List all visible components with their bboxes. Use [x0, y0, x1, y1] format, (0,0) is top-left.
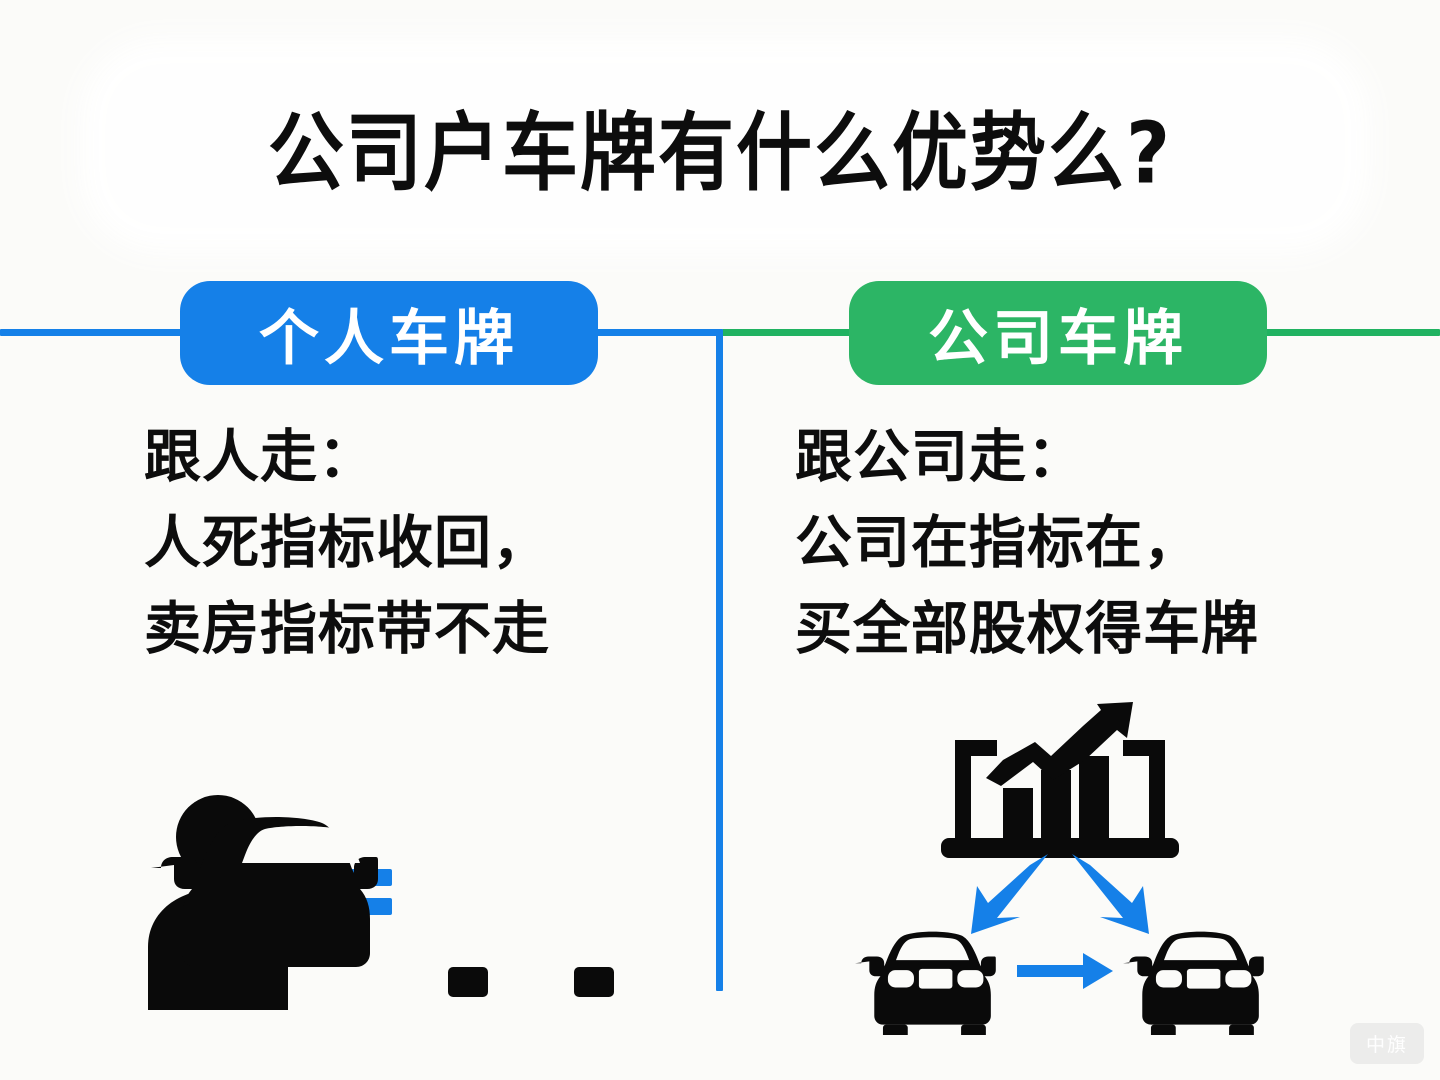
arrow-down-left-icon [971, 854, 1048, 934]
copy-line: 公司在指标在， [795, 500, 1259, 586]
copy-line: 人死指标收回， [144, 500, 550, 586]
car-front-icon [855, 932, 996, 1035]
infographic-canvas: 公司户车牌有什么优势么? 个人车牌 公司车牌 跟人走： 人死指标收回， 卖房指标… [0, 0, 1440, 1080]
arrow-down-right-icon [1072, 854, 1149, 934]
divider-line-vertical-blue [716, 329, 723, 991]
arrow-right-icon [1017, 953, 1113, 989]
copy-line: 卖房指标带不走 [144, 586, 550, 672]
car-front-icon [1123, 932, 1264, 1035]
copy-block-company: 跟公司走： 公司在指标在， 买全部股权得车牌 [795, 414, 1259, 672]
copy-block-personal: 跟人走： 人死指标收回， 卖房指标带不走 [144, 414, 550, 672]
illustration-person-equals-car [138, 795, 668, 1010]
badge-personal-plate: 个人车牌 [180, 281, 598, 385]
copy-line: 跟人走： [144, 414, 550, 500]
page-title: 公司户车牌有什么优势么? [0, 84, 1440, 207]
growth-chart-icon [941, 702, 1179, 858]
copy-line: 买全部股权得车牌 [795, 586, 1259, 672]
copy-line: 跟公司走： [795, 414, 1259, 500]
illustration-growth-to-cars [845, 690, 1275, 1035]
badge-company-plate: 公司车牌 [849, 281, 1267, 385]
watermark-badge: 中旗 [1350, 1023, 1424, 1064]
